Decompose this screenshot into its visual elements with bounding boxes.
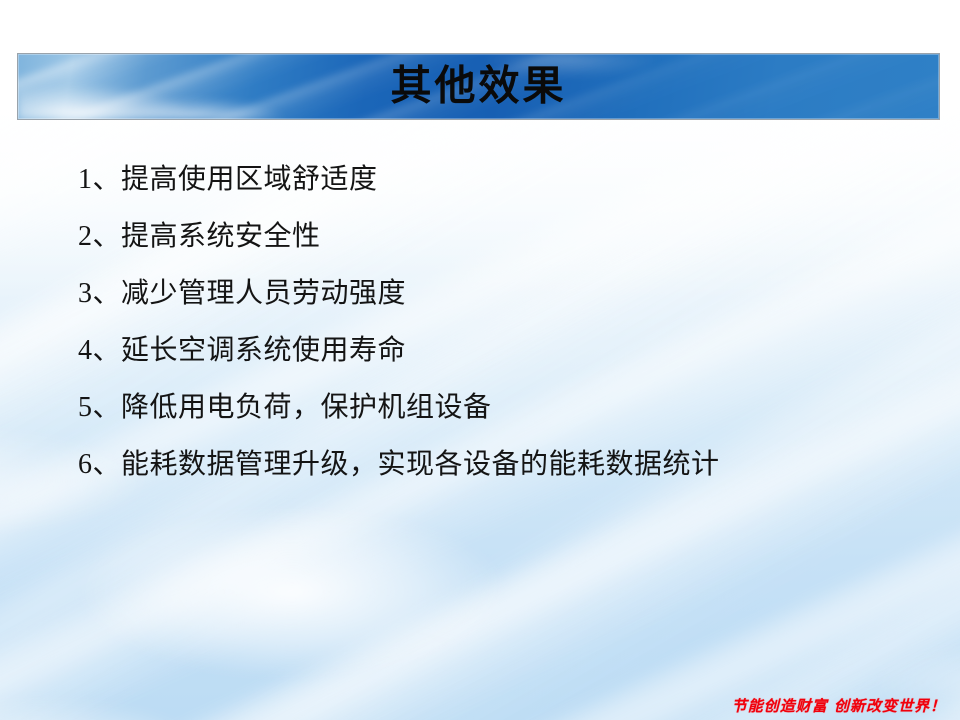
- list-item-number: 4、: [78, 328, 121, 368]
- list-item: 6、 能耗数据管理升级，实现各设备的能耗数据统计: [78, 433, 918, 490]
- title-banner: 其他效果: [17, 53, 940, 120]
- list-item-label: 减少管理人员劳动强度: [121, 271, 406, 311]
- list-item: 1、 提高使用区域舒适度: [78, 148, 918, 205]
- list-item-number: 1、: [78, 157, 121, 197]
- list-item-label: 提高使用区域舒适度: [121, 157, 378, 197]
- list-item-number: 2、: [78, 214, 121, 254]
- list-item-number: 3、: [78, 271, 121, 311]
- list-item: 3、 减少管理人员劳动强度: [78, 262, 918, 319]
- list-item-label: 能耗数据管理升级，实现各设备的能耗数据统计: [121, 442, 720, 482]
- list-item-number: 5、: [78, 385, 121, 425]
- list-item: 2、 提高系统安全性: [78, 205, 918, 262]
- page-title: 其他效果: [18, 65, 939, 106]
- list-item: 5、 降低用电负荷，保护机组设备: [78, 376, 918, 433]
- list-item-label: 延长空调系统使用寿命: [121, 328, 406, 368]
- list-item-label: 提高系统安全性: [121, 214, 321, 254]
- list-item: 4、 延长空调系统使用寿命: [78, 319, 918, 376]
- slide-canvas: 其他效果 1、 提高使用区域舒适度 2、 提高系统安全性 3、 减少管理人员劳动…: [0, 0, 960, 720]
- bullet-list: 1、 提高使用区域舒适度 2、 提高系统安全性 3、 减少管理人员劳动强度 4、…: [78, 148, 918, 490]
- list-item-number: 6、: [78, 442, 121, 482]
- footer-slogan: 节能创造财富 创新改变世界！: [732, 695, 946, 716]
- list-item-label: 降低用电负荷，保护机组设备: [121, 385, 492, 425]
